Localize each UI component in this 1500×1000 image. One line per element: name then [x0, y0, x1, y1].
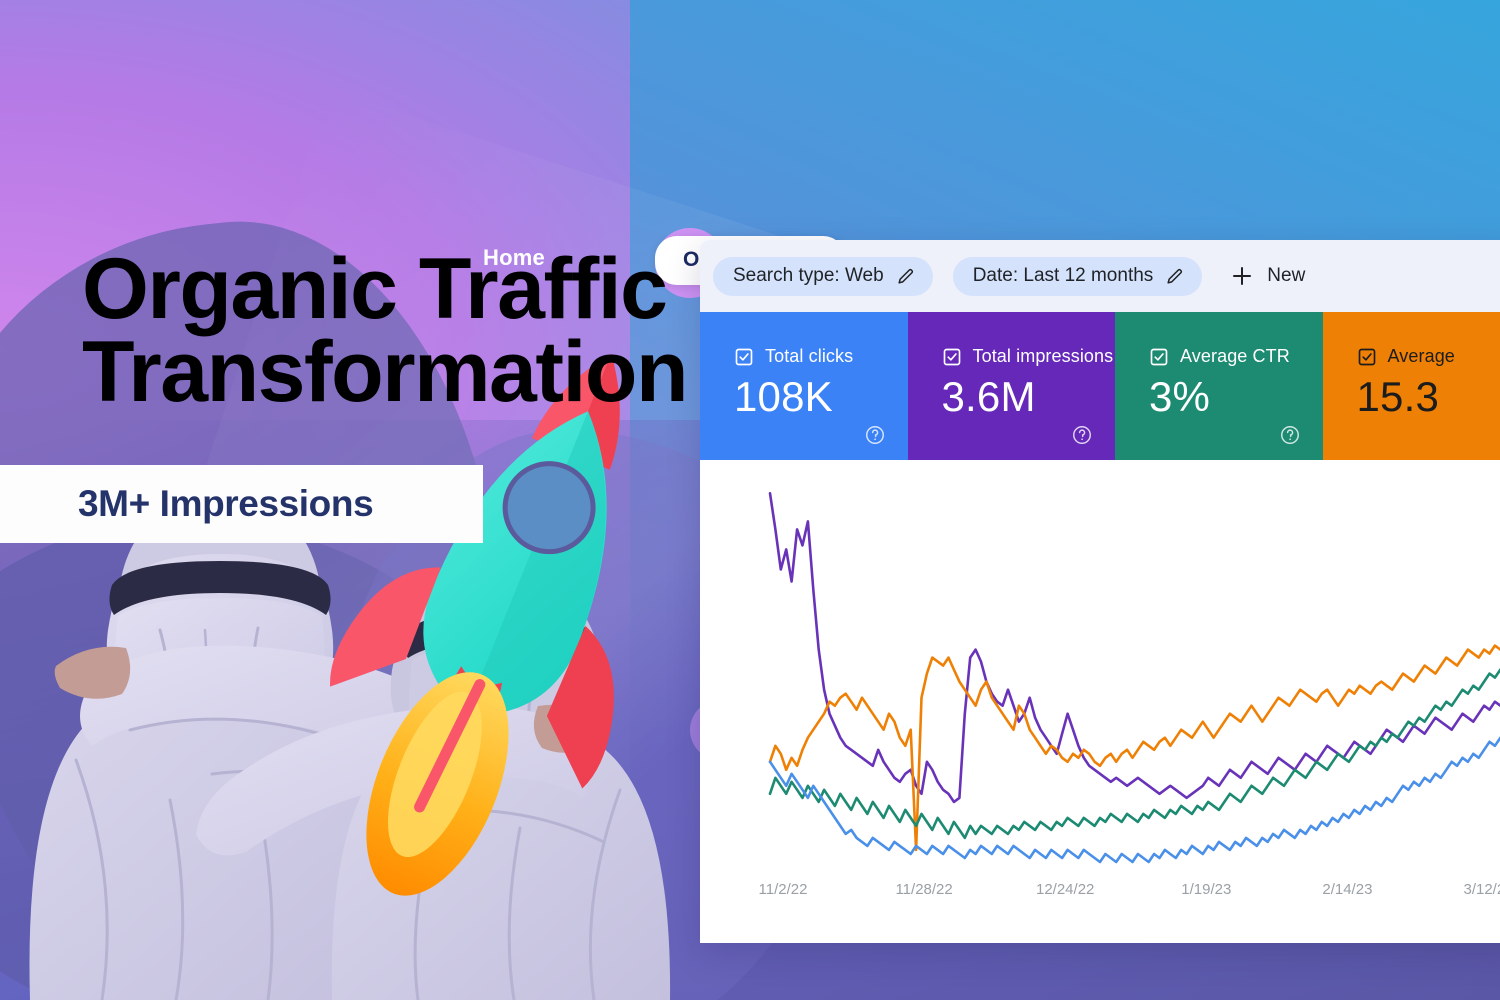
add-filter-label: New: [1267, 265, 1305, 287]
search-console-panel: Search type: Web Date: Last 12 months: [700, 240, 1500, 943]
help-circle-icon[interactable]: [1071, 424, 1093, 446]
plus-icon: [1230, 264, 1254, 288]
chart-x-tick-label: 3/12/23: [1463, 881, 1500, 898]
panel-toolbar: Search type: Web Date: Last 12 months: [700, 240, 1500, 312]
metric-card-label: Total clicks: [765, 346, 853, 367]
top-navigation: Home Our Products Voucher Sign Up: [0, 112, 1420, 178]
page-title: Organic Traffic Transformation: [82, 248, 687, 415]
chart-x-tick-label: 2/14/23: [1322, 881, 1372, 898]
help-circle-icon[interactable]: [1279, 424, 1301, 446]
pencil-icon[interactable]: [1165, 267, 1184, 286]
add-filter-button[interactable]: New: [1230, 264, 1305, 288]
help-circle-icon[interactable]: [864, 424, 886, 446]
metric-card-total-clicks[interactable]: Total clicks 108K: [700, 312, 908, 460]
illustration-team-and-rocket: [0, 330, 720, 1000]
impressions-banner-label: 3M+ Impressions: [78, 483, 373, 525]
chart-x-tick-label: 12/24/22: [1036, 881, 1094, 898]
chart-series-line: [770, 650, 1500, 838]
metric-card-value: 3.6M: [942, 373, 1116, 421]
chart-x-axis: 11/2/2211/28/2212/24/221/19/232/14/233/1…: [700, 881, 1500, 905]
filter-chip-date[interactable]: Date: Last 12 months: [953, 257, 1203, 296]
checkbox-checked-icon[interactable]: [734, 347, 754, 367]
pencil-icon[interactable]: [896, 267, 915, 286]
chart-x-tick-label: 11/28/22: [895, 881, 952, 898]
metric-card-average-position[interactable]: Average 15.3: [1323, 312, 1500, 460]
checkbox-checked-icon[interactable]: [942, 347, 962, 367]
performance-chart: 11/2/2211/28/2212/24/221/19/232/14/233/1…: [700, 460, 1500, 943]
metric-card-label: Average CTR: [1180, 346, 1290, 367]
metric-card-value: 108K: [734, 373, 908, 421]
chart-x-tick-label: 11/2/22: [759, 881, 808, 898]
checkbox-checked-icon[interactable]: [1149, 347, 1169, 367]
metric-card-label: Total impressions: [973, 346, 1114, 367]
metric-card-value: 3%: [1149, 373, 1323, 421]
filter-chip-date-label: Date: Last 12 months: [973, 265, 1154, 287]
filter-chip-search-type[interactable]: Search type: Web: [713, 257, 933, 296]
metric-cards: Total clicks 108K: [700, 312, 1500, 460]
chart-x-tick-label: 1/19/23: [1181, 881, 1231, 898]
metric-card-average-ctr[interactable]: Average CTR 3%: [1115, 312, 1323, 460]
metric-card-label: Average: [1388, 346, 1455, 367]
metric-card-value: 15.3: [1357, 373, 1500, 421]
metric-card-total-impressions[interactable]: Total impressions 3.6M: [908, 312, 1116, 460]
filter-chip-search-type-label: Search type: Web: [733, 265, 884, 287]
poster-root: Home Our Products Voucher Sign Up Organi…: [0, 0, 1500, 1000]
checkbox-checked-icon[interactable]: [1357, 347, 1377, 367]
impressions-banner: 3M+ Impressions: [0, 465, 483, 543]
chart-plot-area: [700, 460, 1500, 890]
